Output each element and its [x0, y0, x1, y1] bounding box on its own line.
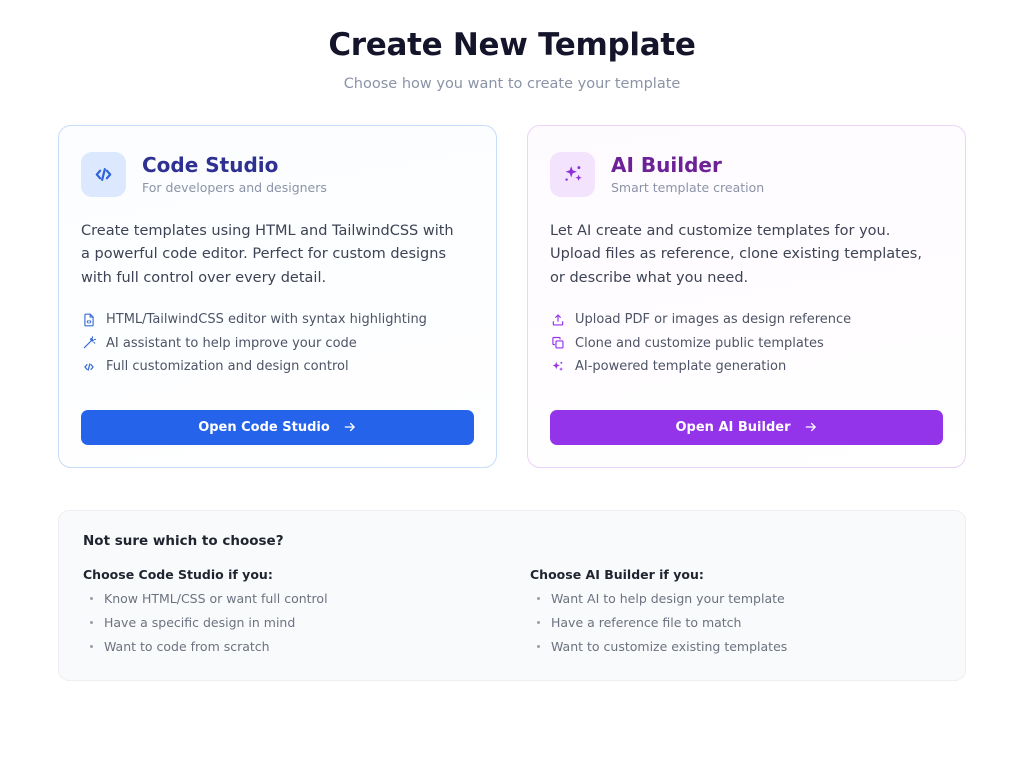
upload-icon — [550, 312, 565, 327]
feature-list: Upload PDF or images as design reference… — [550, 312, 943, 374]
feature-item: Clone and customize public templates — [550, 336, 943, 351]
card-ai-builder[interactable]: AI Builder Smart template creation Let A… — [527, 125, 966, 468]
card-subtitle: Smart template creation — [611, 180, 764, 195]
card-title: Code Studio — [142, 154, 327, 177]
card-code-studio[interactable]: Code Studio For developers and designers… — [58, 125, 497, 468]
cta-label: Open Code Studio — [198, 420, 330, 435]
template-option-cards: Code Studio For developers and designers… — [58, 125, 966, 468]
help-column-title: Choose Code Studio if you: — [83, 567, 494, 582]
help-columns: Choose Code Studio if you: Know HTML/CSS… — [83, 567, 941, 654]
card-title-group: AI Builder Smart template creation — [611, 154, 764, 195]
file-code-icon — [81, 312, 96, 327]
feature-list: HTML/TailwindCSS editor with syntax high… — [81, 312, 474, 374]
feature-item: AI-powered template generation — [550, 359, 943, 374]
help-column-title: Choose AI Builder if you: — [530, 567, 941, 582]
arrow-right-icon — [343, 420, 357, 434]
help-panel-title: Not sure which to choose? — [83, 533, 941, 549]
card-description: Let AI create and customize templates fo… — [550, 220, 935, 290]
help-panel: Not sure which to choose? Choose Code St… — [58, 510, 966, 681]
feature-label: AI assistant to help improve your code — [106, 336, 357, 351]
feature-label: HTML/TailwindCSS editor with syntax high… — [106, 312, 427, 327]
feature-item: Full customization and design control — [81, 359, 474, 374]
sparkles-icon — [550, 152, 595, 197]
list-item: Want AI to help design your template — [530, 591, 941, 606]
magic-wand-icon — [81, 336, 96, 351]
list-item: Want to code from scratch — [83, 639, 494, 654]
feature-label: Clone and customize public templates — [575, 336, 824, 351]
open-code-studio-button[interactable]: Open Code Studio — [81, 410, 474, 445]
feature-label: Full customization and design control — [106, 359, 349, 374]
cta-label: Open AI Builder — [676, 420, 791, 435]
feature-item: Upload PDF or images as design reference — [550, 312, 943, 327]
feature-label: Upload PDF or images as design reference — [575, 312, 851, 327]
card-title-group: Code Studio For developers and designers — [142, 154, 327, 195]
help-list: Want AI to help design your template Hav… — [530, 591, 941, 654]
list-item: Know HTML/CSS or want full control — [83, 591, 494, 606]
page-subtitle: Choose how you want to create your templ… — [58, 76, 966, 92]
help-list: Know HTML/CSS or want full control Have … — [83, 591, 494, 654]
create-template-page: Create New Template Choose how you want … — [0, 0, 1024, 759]
code-brackets-icon — [81, 359, 96, 374]
help-column-ai-builder: Choose AI Builder if you: Want AI to hel… — [494, 567, 941, 654]
card-description: Create templates using HTML and Tailwind… — [81, 220, 466, 290]
open-ai-builder-button[interactable]: Open AI Builder — [550, 410, 943, 445]
list-item: Have a specific design in mind — [83, 615, 494, 630]
arrow-right-icon — [804, 420, 818, 434]
copy-icon — [550, 336, 565, 351]
card-header: AI Builder Smart template creation — [550, 152, 943, 197]
code-brackets-icon — [81, 152, 126, 197]
page-header: Create New Template Choose how you want … — [58, 0, 966, 92]
list-item: Have a reference file to match — [530, 615, 941, 630]
card-subtitle: For developers and designers — [142, 180, 327, 195]
feature-label: AI-powered template generation — [575, 359, 786, 374]
feature-item: AI assistant to help improve your code — [81, 336, 474, 351]
sparkles-icon — [550, 359, 565, 374]
page-title: Create New Template — [58, 26, 966, 65]
card-title: AI Builder — [611, 154, 764, 177]
feature-item: HTML/TailwindCSS editor with syntax high… — [81, 312, 474, 327]
list-item: Want to customize existing templates — [530, 639, 941, 654]
card-header: Code Studio For developers and designers — [81, 152, 474, 197]
help-column-code-studio: Choose Code Studio if you: Know HTML/CSS… — [83, 567, 494, 654]
